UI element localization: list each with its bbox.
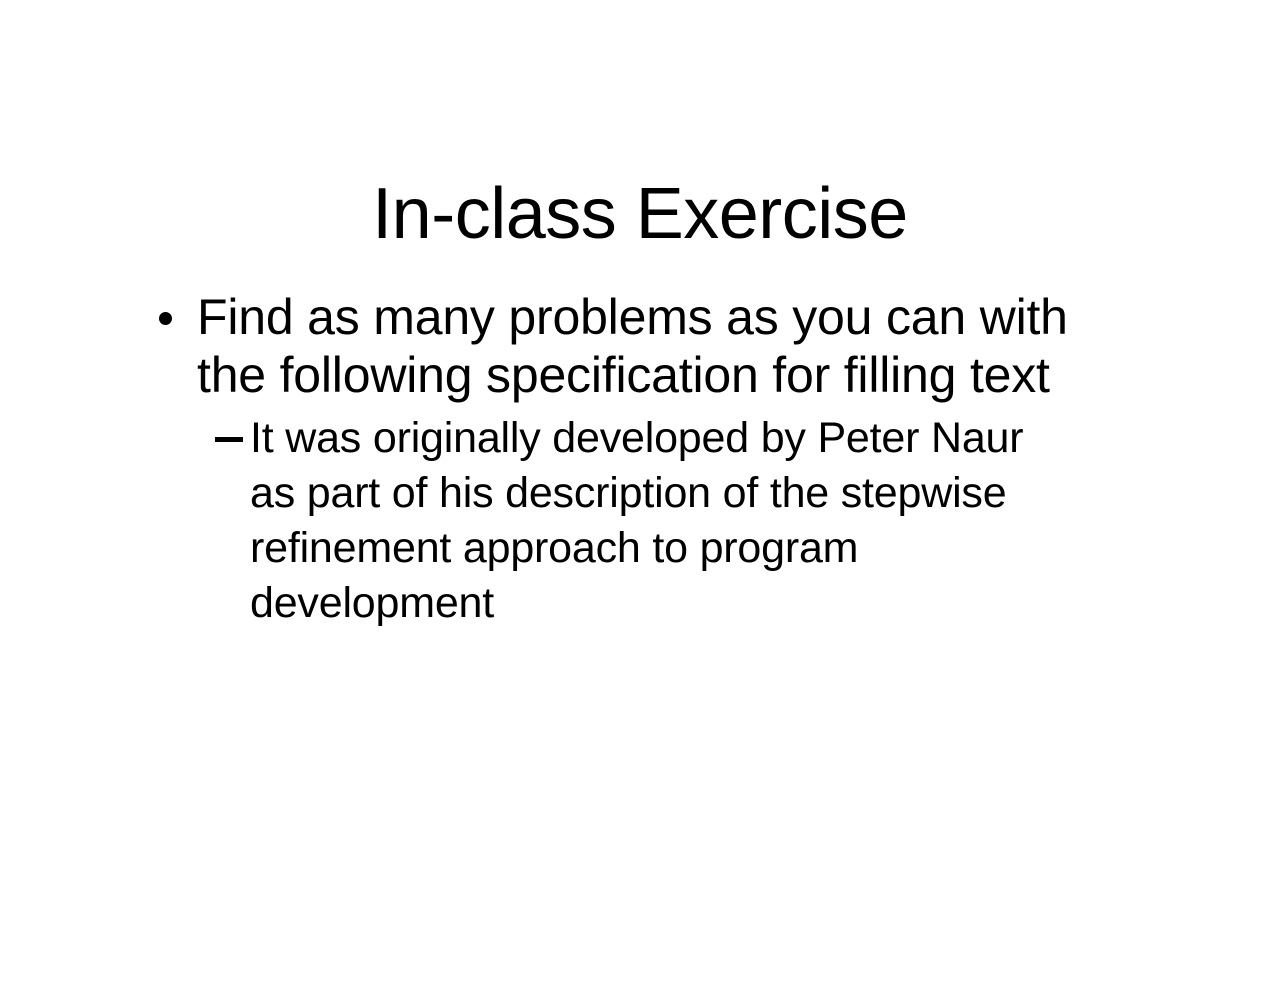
en-dash-bullet-icon <box>215 437 243 442</box>
bullet-list-level1: Find as many problems as you can with th… <box>0 288 1280 631</box>
page-title: In-class Exercise <box>0 178 1280 250</box>
bullet-list-level2: It was originally developed by Peter Nau… <box>197 411 1280 631</box>
presentation-slide: In-class Exercise Find as many problems … <box>0 0 1280 989</box>
round-bullet-icon <box>159 312 172 325</box>
bullet-level1-text: Find as many problems as you can with th… <box>197 288 1112 404</box>
list-item: Find as many problems as you can with th… <box>0 288 1280 631</box>
list-item: It was originally developed by Peter Nau… <box>197 411 1280 631</box>
bullet-level2-text: It was originally developed by Peter Nau… <box>250 411 1075 631</box>
slide-body: Find as many problems as you can with th… <box>0 288 1280 631</box>
